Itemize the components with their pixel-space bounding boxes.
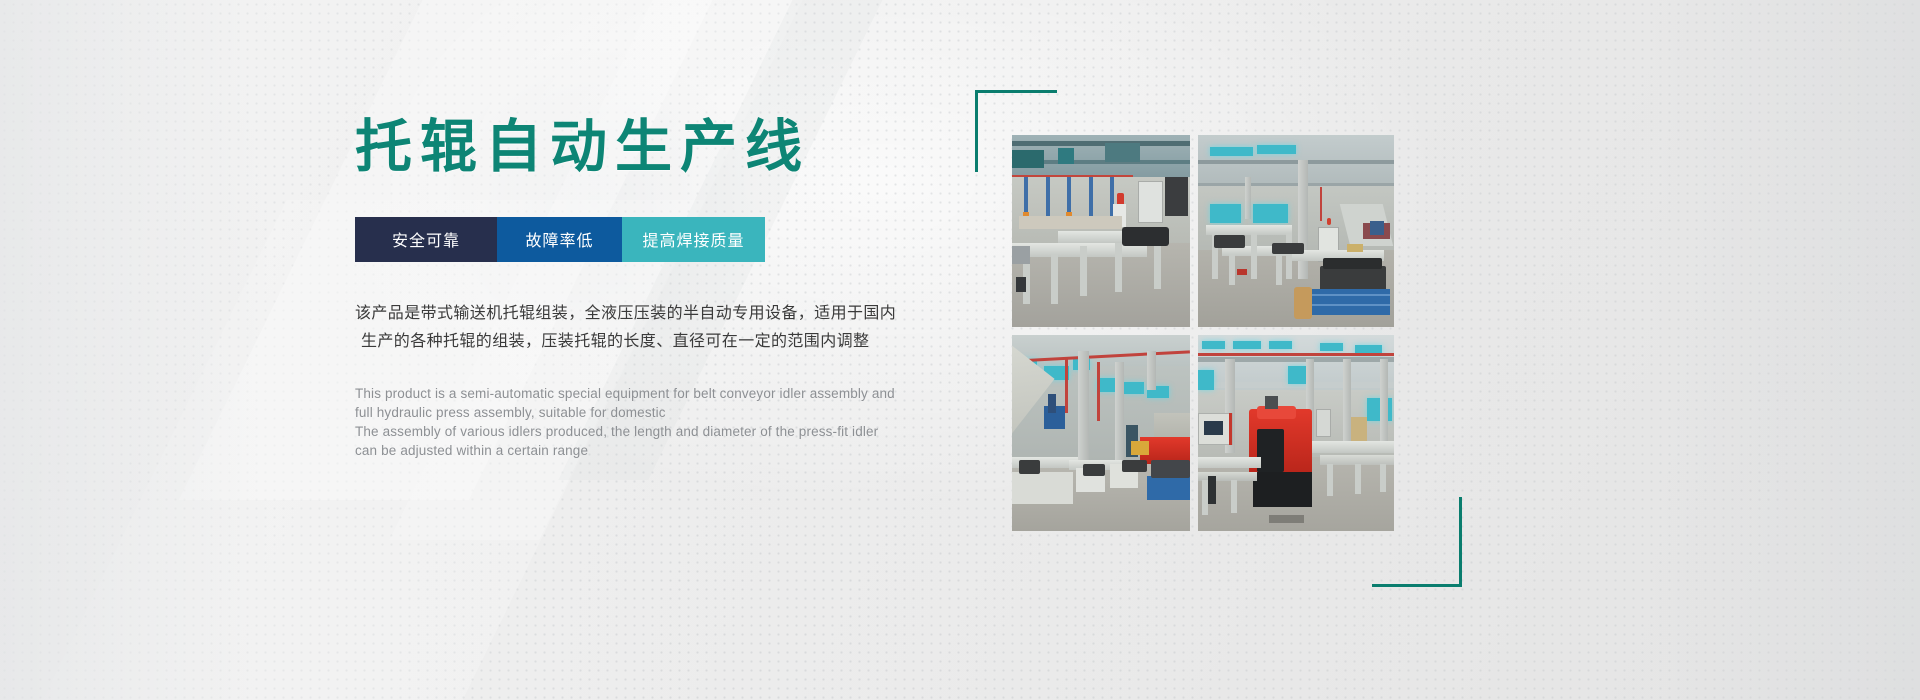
description-english: This product is a semi-automatic special… xyxy=(355,384,900,460)
gallery-photo-3[interactable] xyxy=(1012,335,1190,531)
background-edge-vignette xyxy=(0,0,1920,700)
photo-1-scene xyxy=(1012,135,1190,327)
photo-grid xyxy=(1012,135,1412,535)
description-english-line-1: This product is a semi-automatic special… xyxy=(355,384,900,403)
feature-badge-group: 安全可靠 故障率低 提高焊接质量 xyxy=(355,217,765,262)
description-english-line-2: full hydraulic press assembly, suitable … xyxy=(355,403,900,422)
product-banner: 托辊自动生产线 安全可靠 故障率低 提高焊接质量 该产品是带式输送机托辊组装，全… xyxy=(0,0,1920,700)
description-english-line-4: can be adjusted within a certain range xyxy=(355,441,900,460)
photo-2-scene xyxy=(1198,135,1394,327)
badge-improved-weld-quality[interactable]: 提高焊接质量 xyxy=(622,217,765,262)
photo-gallery xyxy=(1012,135,1412,535)
description-english-line-3: The assembly of various idlers produced,… xyxy=(355,422,900,441)
gallery-photo-4[interactable] xyxy=(1198,335,1394,531)
photo-3-scene xyxy=(1012,335,1190,531)
badge-safe-reliable[interactable]: 安全可靠 xyxy=(355,217,497,262)
photo-4-scene xyxy=(1198,335,1394,531)
description-chinese-line-1: 该产品是带式输送机托辊组装，全液压压装的半自动专用设备，适用于国内 xyxy=(355,300,900,328)
gallery-photo-2[interactable] xyxy=(1198,135,1394,327)
description-chinese-line-2: 生产的各种托辊的组装，压装托辊的长度、直径可在一定的范围内调整 xyxy=(355,328,900,356)
banner-text-block: 托辊自动生产线 安全可靠 故障率低 提高焊接质量 该产品是带式输送机托辊组装，全… xyxy=(355,118,915,460)
badge-low-failure-rate[interactable]: 故障率低 xyxy=(497,217,622,262)
description-chinese: 该产品是带式输送机托辊组装，全液压压装的半自动专用设备，适用于国内 生产的各种托… xyxy=(355,300,900,356)
page-title: 托辊自动生产线 xyxy=(355,118,915,178)
gallery-photo-1[interactable] xyxy=(1012,135,1190,327)
